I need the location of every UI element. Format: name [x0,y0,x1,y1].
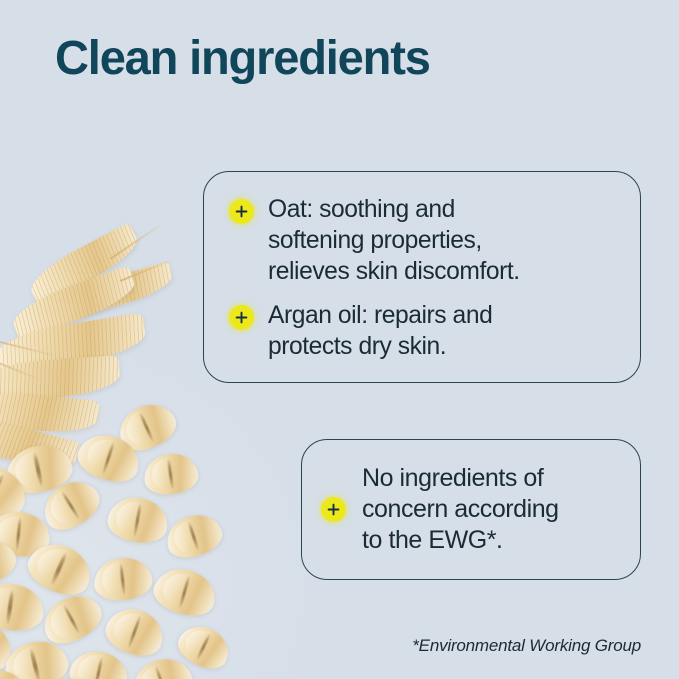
oat-flake [35,472,106,538]
oat-flake [2,440,76,499]
oat-flake [21,535,98,603]
oat-husk [0,387,100,437]
ewg-card: No ingredients of concern according to t… [301,439,641,580]
page-title: Clean ingredients [55,31,430,86]
oat-flake [0,609,21,679]
oat-flake [0,456,35,525]
oat-flake [141,450,200,497]
oat-awn [120,259,173,281]
oat-husk [0,355,121,403]
oat-flake [66,646,131,679]
oat-flake [126,651,197,679]
oat-flake [112,396,182,458]
oat-husk [24,222,144,307]
oat-husk [0,411,80,475]
oat-flake [30,670,99,679]
oat-flake [0,635,73,679]
oat-flake [0,668,29,679]
oat-husk [60,261,176,320]
oat-flake [92,555,154,603]
oat-flake [36,586,109,651]
list-item-label: No ingredients of concern according to t… [362,463,559,556]
oat-flake [0,580,47,635]
list-item-label: Oat: soothing and softening properties, … [268,194,520,287]
oat-husk [8,265,140,341]
oat-flake [100,601,170,662]
list-item: Argan oil: repairs and protects dry skin… [229,300,626,362]
oat-flake [105,493,172,547]
plus-icon [229,305,254,330]
oat-awn [110,225,161,260]
plus-icon [321,497,346,522]
list-item-label: Argan oil: repairs and protects dry skin… [268,300,492,362]
oat-flake [73,427,146,488]
oat-flake [0,509,52,559]
oat-husk [0,313,148,376]
promo-canvas: Clean ingredients Oat: soothing and soft… [0,0,679,679]
ewg-bullet-list: No ingredients of concern according to t… [302,440,640,579]
plus-icon [229,199,254,224]
ingredients-bullet-list: Oat: soothing and softening properties, … [229,194,626,362]
oat-awn [0,336,60,357]
ingredients-card: Oat: soothing and softening properties, … [203,171,641,383]
oat-awn [0,352,39,380]
oat-flake [149,562,221,621]
oat-flake [172,619,235,676]
list-item: Oat: soothing and softening properties, … [229,194,626,287]
oat-flake [0,532,22,593]
oat-flake [161,508,227,563]
footnote: *Environmental Working Group [412,636,641,656]
